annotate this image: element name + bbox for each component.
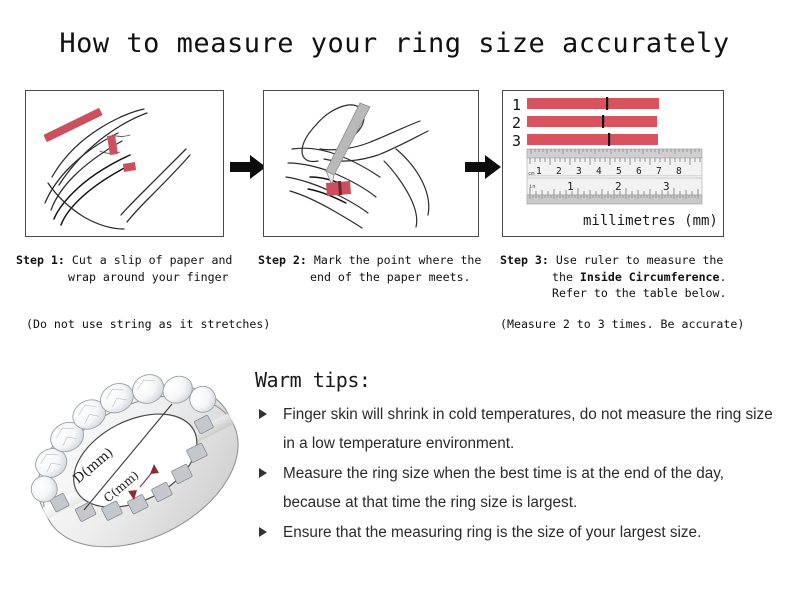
step-3-note: (Measure 2 to 3 times. Be accurate): [500, 317, 744, 331]
ring-size-guide-page: How to measure your ring size accurately: [0, 0, 789, 606]
ruler-graphic: 1 2 3 4 5 6 7 8 cm 1 2 3 i: [527, 149, 702, 204]
step-3-inside-circumference: Inside Circumference: [580, 270, 720, 284]
step-1-note: (Do not use string as it stretches): [26, 317, 270, 331]
step-2-illustration-panel: [263, 90, 479, 237]
strip-number-1: 1: [512, 96, 521, 114]
step-3-label: Step 3:: [500, 253, 549, 267]
inch-tick-3: 3: [663, 180, 670, 193]
warm-tip-item: Finger skin will shrink in cold temperat…: [255, 400, 775, 458]
step-1-line1: Cut a slip of paper and: [72, 253, 233, 267]
step-2-label: Step 2:: [258, 253, 307, 267]
triangle-bullet-icon: [259, 409, 267, 419]
cm-tick-5: 5: [616, 166, 622, 177]
warm-tip-item: Measure the ring size when the best time…: [255, 459, 775, 517]
cm-tick-6: 6: [636, 166, 642, 177]
warm-tips-list: Finger skin will shrink in cold temperat…: [255, 400, 775, 548]
warm-tip-item: Ensure that the measuring ring is the si…: [255, 518, 775, 547]
warm-tip-text: Ensure that the measuring ring is the si…: [283, 524, 701, 541]
step-2-caption: Step 2: Mark the point where the end of …: [258, 252, 498, 285]
arrow-right-icon-2: [463, 152, 503, 182]
arrow-right-icon-1: [228, 152, 268, 182]
step-1-caption: Step 1: Cut a slip of paper and wrap aro…: [16, 252, 256, 285]
step-1-illustration-panel: [25, 90, 224, 237]
page-title: How to measure your ring size accurately: [0, 28, 789, 59]
inch-tick-1: 1: [567, 180, 574, 193]
cm-tick-3: 3: [576, 166, 582, 177]
cm-tick-4: 4: [596, 166, 602, 177]
step-3-line2: the Inside Circumference.: [500, 269, 780, 286]
step-2-line2: end of the paper meets.: [258, 269, 498, 286]
hand-with-pen-marking-icon: [264, 91, 477, 235]
step-2-line1: Mark the point where the: [314, 253, 482, 267]
warm-tip-text: Measure the ring size when the best time…: [283, 465, 724, 511]
step-1-label: Step 1:: [16, 253, 65, 267]
paper-strip-3: [527, 134, 658, 145]
strip-number-3: 3: [512, 132, 521, 150]
strip-mark-3: [608, 133, 610, 146]
paper-strip-1: [527, 98, 659, 109]
triangle-bullet-icon: [259, 527, 267, 537]
cm-tick-1: 1: [536, 166, 542, 177]
step-3-line2-prefix: the: [552, 270, 580, 284]
step-3-line1: Use ruler to measure the: [556, 253, 724, 267]
ruler-with-paper-strips-icon: 1 2 3: [503, 91, 722, 235]
strip-mark-2: [602, 115, 604, 128]
cm-tick-2: 2: [556, 166, 562, 177]
triangle-bullet-icon: [259, 468, 267, 478]
cm-tick-8: 8: [676, 166, 682, 177]
step-3-line3: Refer to the table below.: [500, 285, 780, 302]
strip-number-2: 2: [512, 114, 521, 132]
paper-strip-2: [527, 116, 657, 127]
eternity-ring-photo: D(mm) C(mm): [22, 352, 254, 580]
step-3-illustration-panel: 1 2 3: [502, 90, 724, 237]
strip-mark-1: [606, 97, 608, 110]
cm-tick-7: 7: [656, 166, 662, 177]
hand-with-paper-strip-icon: [26, 91, 222, 235]
step-3-line2-end: .: [720, 270, 727, 284]
step-1-line2: wrap around your finger: [16, 269, 256, 286]
inch-tick-2: 2: [615, 180, 622, 193]
step-3-caption: Step 3: Use ruler to measure the the Ins…: [500, 252, 780, 302]
warm-tip-text: Finger skin will shrink in cold temperat…: [283, 406, 773, 452]
ruler-unit-caption: millimetres (mm): [583, 213, 718, 229]
warm-tips-heading: Warm tips:: [255, 368, 370, 392]
